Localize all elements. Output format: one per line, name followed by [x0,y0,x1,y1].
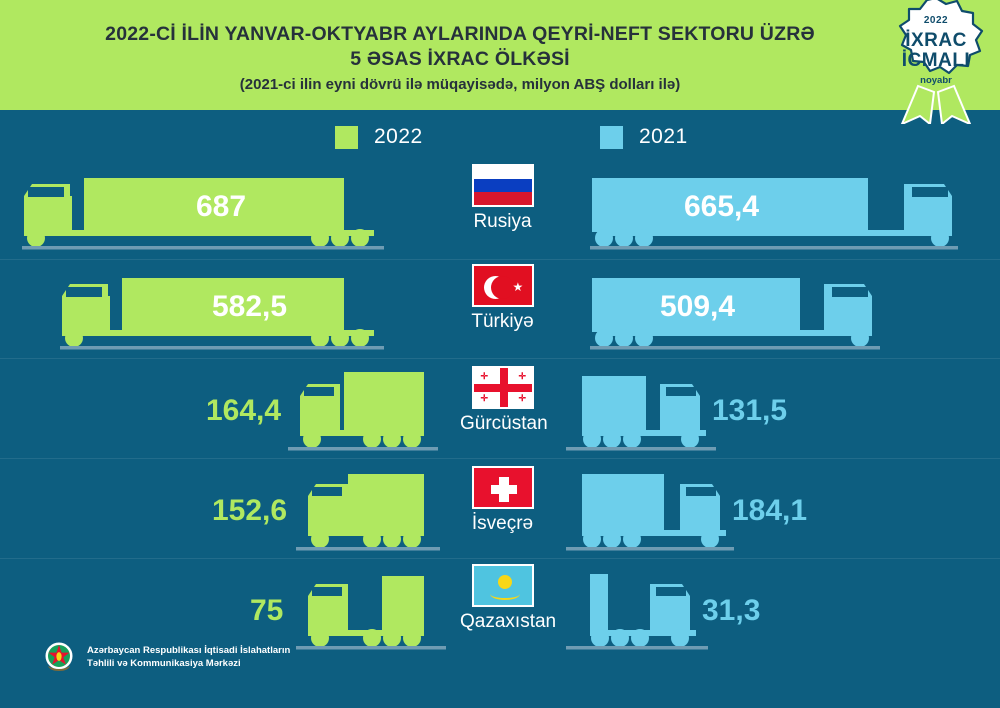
footer-line1: Azərbaycan Respublikası İqtisadi İslahat… [87,644,290,657]
russia-flag-icon [472,164,534,207]
bar-2021-rusiya: 665,4 [560,160,1000,260]
turkey-flag-icon: ★ [472,264,534,307]
country-label: Rusiya [460,211,545,233]
table-row: 687 Rusiya 665,4 [0,160,1000,260]
truck-blue-icon [560,160,1000,260]
badge-year: 2022 [878,16,994,26]
footer: Azərbaycan Respublikası İqtisadi İslahat… [42,640,290,674]
page-title-line1: 2022-Cİ İLİN YANVAR-OKTYABR AYLARINDA QE… [40,22,880,47]
bar-2021-gurcustan: 131,5 [560,362,1000,462]
table-row: 582,5 ★ Türkiyə 509,4 [0,260,1000,360]
page-subtitle: (2021-ci ilin eyni dövrü ilə müqayisədə,… [40,72,880,98]
country-label: Türkiyə [460,311,545,333]
value-2022-qazaxistan: 75 [250,594,283,628]
table-row: 164,4 ✛ ✛ ✛ ✛ Gürcüstan 131,5 [0,362,1000,462]
value-2021-isvecre: 184,1 [732,494,807,528]
legend-swatch-2021 [600,126,623,149]
bar-2021-qazaxistan: 31,3 [560,560,1000,660]
value-2022-turkiye: 582,5 [212,290,287,324]
value-2021-gurcustan: 131,5 [712,394,787,428]
country-label: Qazaxıstan [460,611,545,633]
country-label: Gürcüstan [460,413,545,435]
chart-legend: 2022 2021 [0,125,1000,159]
country-cell-isvecre: İsveçrə [460,466,545,535]
footer-line2: Təhlili və Kommunikasiya Mərkəzi [87,657,290,670]
kazakhstan-flag-icon [472,564,534,607]
footer-text-block: Azərbaycan Respublikası İqtisadi İslahat… [87,644,290,670]
azerbaijan-emblem-icon [42,640,76,674]
country-cell-qazaxistan: Qazaxıstan [460,564,545,633]
report-badge: 2022 İXRAC İCMALI noyabr [878,0,994,124]
country-cell-rusiya: Rusiya [460,164,545,233]
value-2021-turkiye: 509,4 [660,290,735,324]
badge-text-block: 2022 İXRAC İCMALI noyabr [878,16,994,86]
value-2022-rusiya: 687 [196,190,246,224]
legend-swatch-2022 [335,126,358,149]
value-2021-qazaxistan: 31,3 [702,594,760,628]
page-title-line2: 5 ƏSAS İXRAC ÖLKƏSİ [40,47,880,72]
bar-2022-gurcustan: 164,4 [0,362,460,462]
truck-blue-icon [560,560,1000,660]
value-2021-rusiya: 665,4 [684,190,759,224]
georgia-flag-icon: ✛ ✛ ✛ ✛ [472,366,534,409]
country-cell-turkiye: ★ Türkiyə [460,264,545,333]
badge-month: noyabr [878,76,994,86]
country-label: İsveçrə [460,513,545,535]
bar-2021-isvecre: 184,1 [560,462,1000,562]
value-2022-isvecre: 152,6 [212,494,287,528]
bar-2022-rusiya: 687 [0,160,460,260]
legend-label-2022: 2022 [374,125,423,149]
truck-blue-icon [560,260,1000,360]
table-row: 152,6 İsveçrə 184,1 [0,462,1000,562]
bar-2021-turkiye: 509,4 [560,260,1000,360]
legend-item-2022: 2022 [335,125,423,149]
switzerland-flag-icon [472,466,534,509]
value-2022-gurcustan: 164,4 [206,394,281,428]
header-text-block: 2022-Cİ İLİN YANVAR-OKTYABR AYLARINDA QE… [40,22,880,98]
legend-item-2021: 2021 [600,125,688,149]
header-banner: 2022-Cİ İLİN YANVAR-OKTYABR AYLARINDA QE… [0,0,1000,110]
badge-line1: İXRAC [878,31,994,50]
legend-label-2021: 2021 [639,125,688,149]
badge-line2: İCMALI [878,51,994,70]
country-cell-gurcustan: ✛ ✛ ✛ ✛ Gürcüstan [460,366,545,435]
bar-2022-turkiye: 582,5 [0,260,460,360]
bar-2022-isvecre: 152,6 [0,462,460,562]
